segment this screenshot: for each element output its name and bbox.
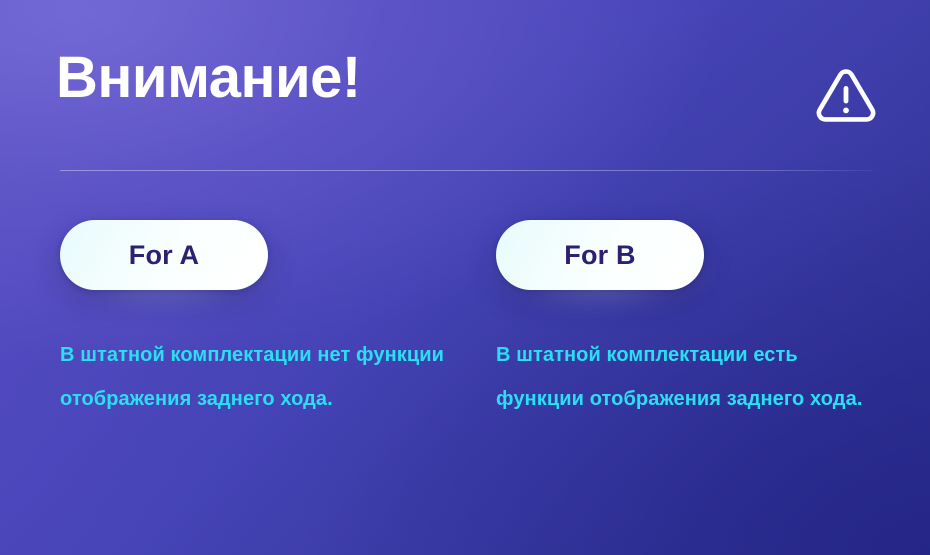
pill-label-for-b: For B [564, 240, 636, 271]
header-divider [60, 170, 872, 171]
column-for-b: For B В штатной комплектации есть функци… [496, 220, 896, 421]
pill-wrapper-b: For B [496, 220, 704, 290]
page-title: Внимание! [56, 48, 361, 109]
description-for-a: В штатной комплектации нет функции отобр… [60, 333, 450, 421]
pill-button-for-a[interactable]: For A [60, 220, 268, 290]
pill-wrapper-a: For A [60, 220, 268, 290]
description-for-b: В штатной комплектации есть функции отоб… [496, 333, 888, 421]
warning-triangle-icon [814, 64, 878, 124]
column-for-a: For A В штатной комплектации нет функции… [60, 220, 460, 421]
pill-label-for-a: For A [129, 240, 200, 271]
warning-slide: Внимание! For A В штатной комплектации н… [0, 0, 930, 555]
pill-button-for-b[interactable]: For B [496, 220, 704, 290]
